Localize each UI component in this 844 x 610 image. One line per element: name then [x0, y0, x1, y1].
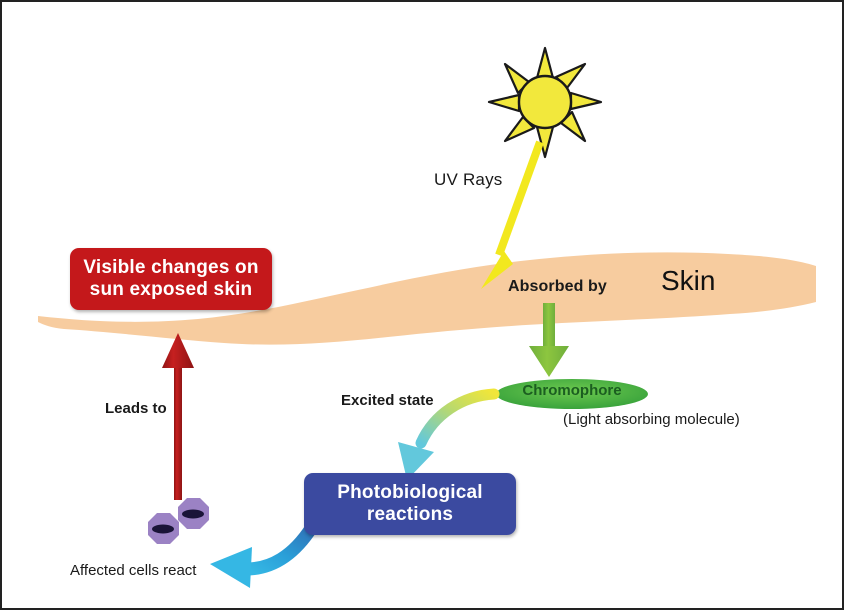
chromophore-caption: (Light absorbing molecule)	[563, 411, 740, 428]
photobiological-reactions-box: Photobiological reactions	[304, 473, 516, 535]
diagram-canvas: UV Rays Absorbed by Skin Leads to Excite…	[0, 0, 844, 610]
reactions-to-cells-arrow	[210, 527, 312, 588]
absorbed-by-label: Absorbed by	[508, 278, 607, 296]
affected-cells-label: Affected cells react	[70, 562, 196, 579]
skin-label: Skin	[661, 265, 715, 297]
visible-changes-line2: sun exposed skin	[90, 279, 253, 300]
photobiological-line2: reactions	[367, 504, 453, 525]
visible-changes-line1: Visible changes on	[83, 257, 258, 278]
chromophore-label: Chromophore	[512, 382, 632, 399]
visible-changes-box: Visible changes on sun exposed skin	[70, 248, 272, 310]
leads-to-arrow	[162, 333, 194, 500]
excited-state-label: Excited state	[341, 392, 434, 409]
affected-cells-icon	[148, 498, 209, 544]
photobiological-line1: Photobiological	[337, 482, 483, 503]
uv-rays-label: UV Rays	[434, 170, 502, 190]
sun-icon	[489, 48, 601, 157]
leads-to-label: Leads to	[105, 400, 167, 417]
